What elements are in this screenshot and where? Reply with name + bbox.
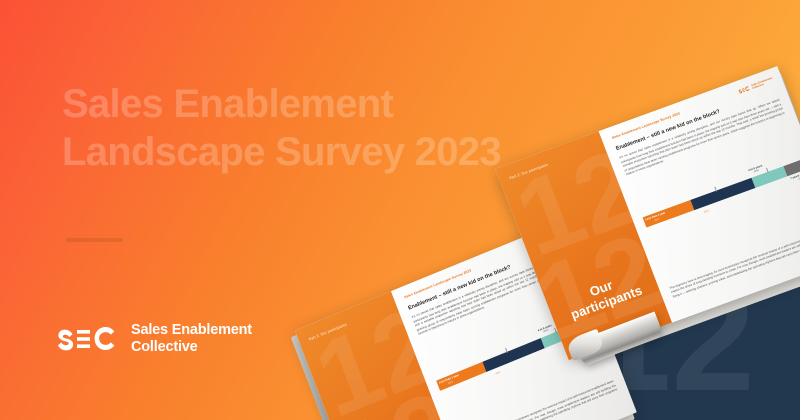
sec-logo: Sales EnablementCollective	[58, 322, 252, 356]
page-title-line-1: Sales Enablement	[62, 80, 501, 128]
document-paragraph-bottom: The trajectory here is encouraging. As m…	[459, 379, 619, 420]
logo-word-line-2: Collective	[131, 339, 198, 355]
banner-graphic: 12 12 Sales Enablement Landscape Survey …	[0, 0, 800, 420]
bar-segment	[690, 178, 755, 210]
document-logo-wordmark: Sales Enablement Collective	[751, 77, 774, 91]
sec-logo-wordmark: Sales EnablementCollective	[131, 322, 252, 356]
panel-kicker: Part 2: Our participants	[509, 163, 549, 181]
brochure-mockup: 12 12 Part 2: Our participants Our parti…	[300, 176, 800, 420]
panel-kicker: Part 2: Our participants	[308, 323, 347, 342]
sec-monogram-icon	[58, 324, 120, 354]
hero-text-block: Sales Enablement Landscape Survey 2023	[62, 80, 501, 176]
bar-segment	[482, 338, 544, 372]
document-sec-monogram-icon	[738, 85, 751, 95]
logo-word-line-1: Sales Enablement	[131, 322, 252, 338]
page-title-line-2: Landscape Survey 2023	[62, 128, 501, 176]
title-divider	[66, 238, 123, 242]
stacked-bar-chart: Less than 1 year 30% 1 to 3 years 38% 4 …	[642, 159, 800, 227]
